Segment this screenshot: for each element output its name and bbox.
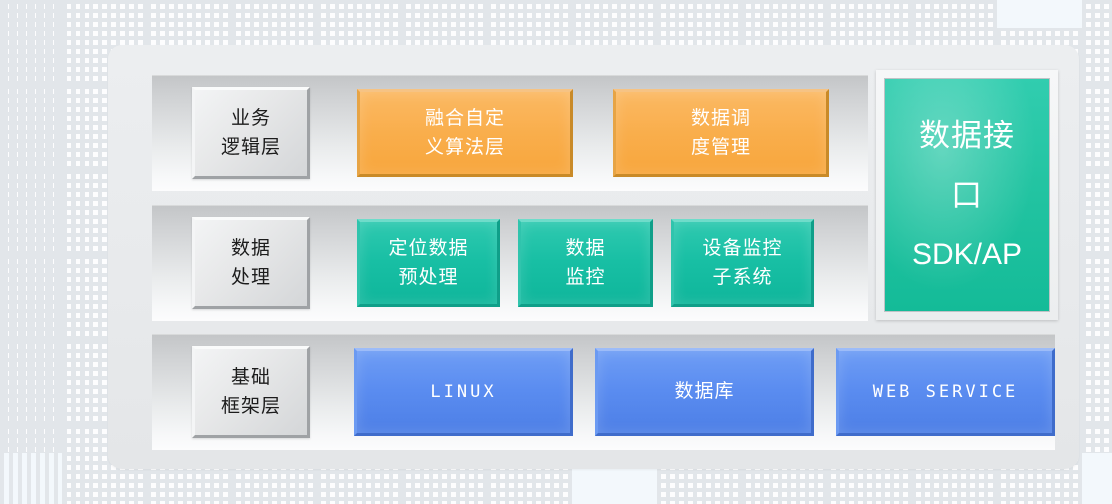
module-web-service[interactable]: WEB SERVICE <box>836 348 1055 436</box>
module-label-line: 数据库 <box>674 377 734 406</box>
module-location-preprocess[interactable]: 定位数据 预处理 <box>357 219 500 307</box>
module-label-line: 预处理 <box>398 263 458 292</box>
module-linux[interactable]: LINUX <box>354 348 573 436</box>
module-label-line: 监控 <box>565 263 605 292</box>
side-panel-label-line: 数据接 <box>919 118 1015 154</box>
module-label-line: LINUX <box>430 379 496 405</box>
grid-tint-cell <box>997 0 1082 28</box>
layer-label-line: 处理 <box>231 263 271 292</box>
module-data-monitor[interactable]: 数据 监控 <box>518 219 653 307</box>
layer-label-line: 基础 <box>231 363 271 392</box>
module-label-line: 数据调 <box>691 104 751 133</box>
module-label-line: 子系统 <box>712 263 772 292</box>
module-label-line: 融合自定 <box>425 104 505 133</box>
layer-label-base-framework: 基础 框架层 <box>192 346 310 438</box>
module-label-line: 设备监控 <box>702 234 782 263</box>
side-panel-label-line: SDK/AP <box>912 238 1022 273</box>
layer-row-base-framework: 基础 框架层 LINUX 数据库 WEB SERVICE <box>152 334 1055 450</box>
module-fusion-algorithm[interactable]: 融合自定 义算法层 <box>357 89 573 177</box>
layer-label-line: 数据 <box>231 234 271 263</box>
layer-label-line: 框架层 <box>221 392 281 421</box>
module-group-data-processing: 定位数据 预处理 数据 监控 设备监控 子系统 <box>310 205 868 321</box>
module-data-scheduling[interactable]: 数据调 度管理 <box>613 89 829 177</box>
layer-label-data-processing: 数据 处理 <box>192 217 310 309</box>
module-label-line: WEB SERVICE <box>873 379 1019 405</box>
module-label-line: 定位数据 <box>388 234 468 263</box>
layer-label-line: 业务 <box>231 104 271 133</box>
grid-tint-cell <box>1082 453 1112 504</box>
layer-label-line: 逻辑层 <box>221 133 281 162</box>
side-panel-inner: 数据接 口 SDK/AP <box>884 78 1050 312</box>
module-group-base-framework: LINUX 数据库 WEB SERVICE <box>310 334 1055 450</box>
module-database[interactable]: 数据库 <box>595 348 814 436</box>
layer-label-business-logic: 业务 逻辑层 <box>192 87 310 179</box>
side-panel-data-interface[interactable]: 数据接 口 SDK/AP <box>876 70 1058 320</box>
module-group-business-logic: 融合自定 义算法层 数据调 度管理 <box>310 75 868 191</box>
module-device-monitor-subsystem[interactable]: 设备监控 子系统 <box>671 219 814 307</box>
layer-row-data-processing: 数据 处理 定位数据 预处理 数据 监控 设备监控 子系统 <box>152 205 868 321</box>
layer-row-business-logic: 业务 逻辑层 融合自定 义算法层 数据调 度管理 <box>152 75 868 191</box>
module-label-line: 数据 <box>565 234 605 263</box>
grid-tint-cell <box>0 453 62 504</box>
side-panel-label-line: 口 <box>951 178 983 214</box>
module-label-line: 义算法层 <box>425 133 505 162</box>
module-label-line: 度管理 <box>691 133 751 162</box>
